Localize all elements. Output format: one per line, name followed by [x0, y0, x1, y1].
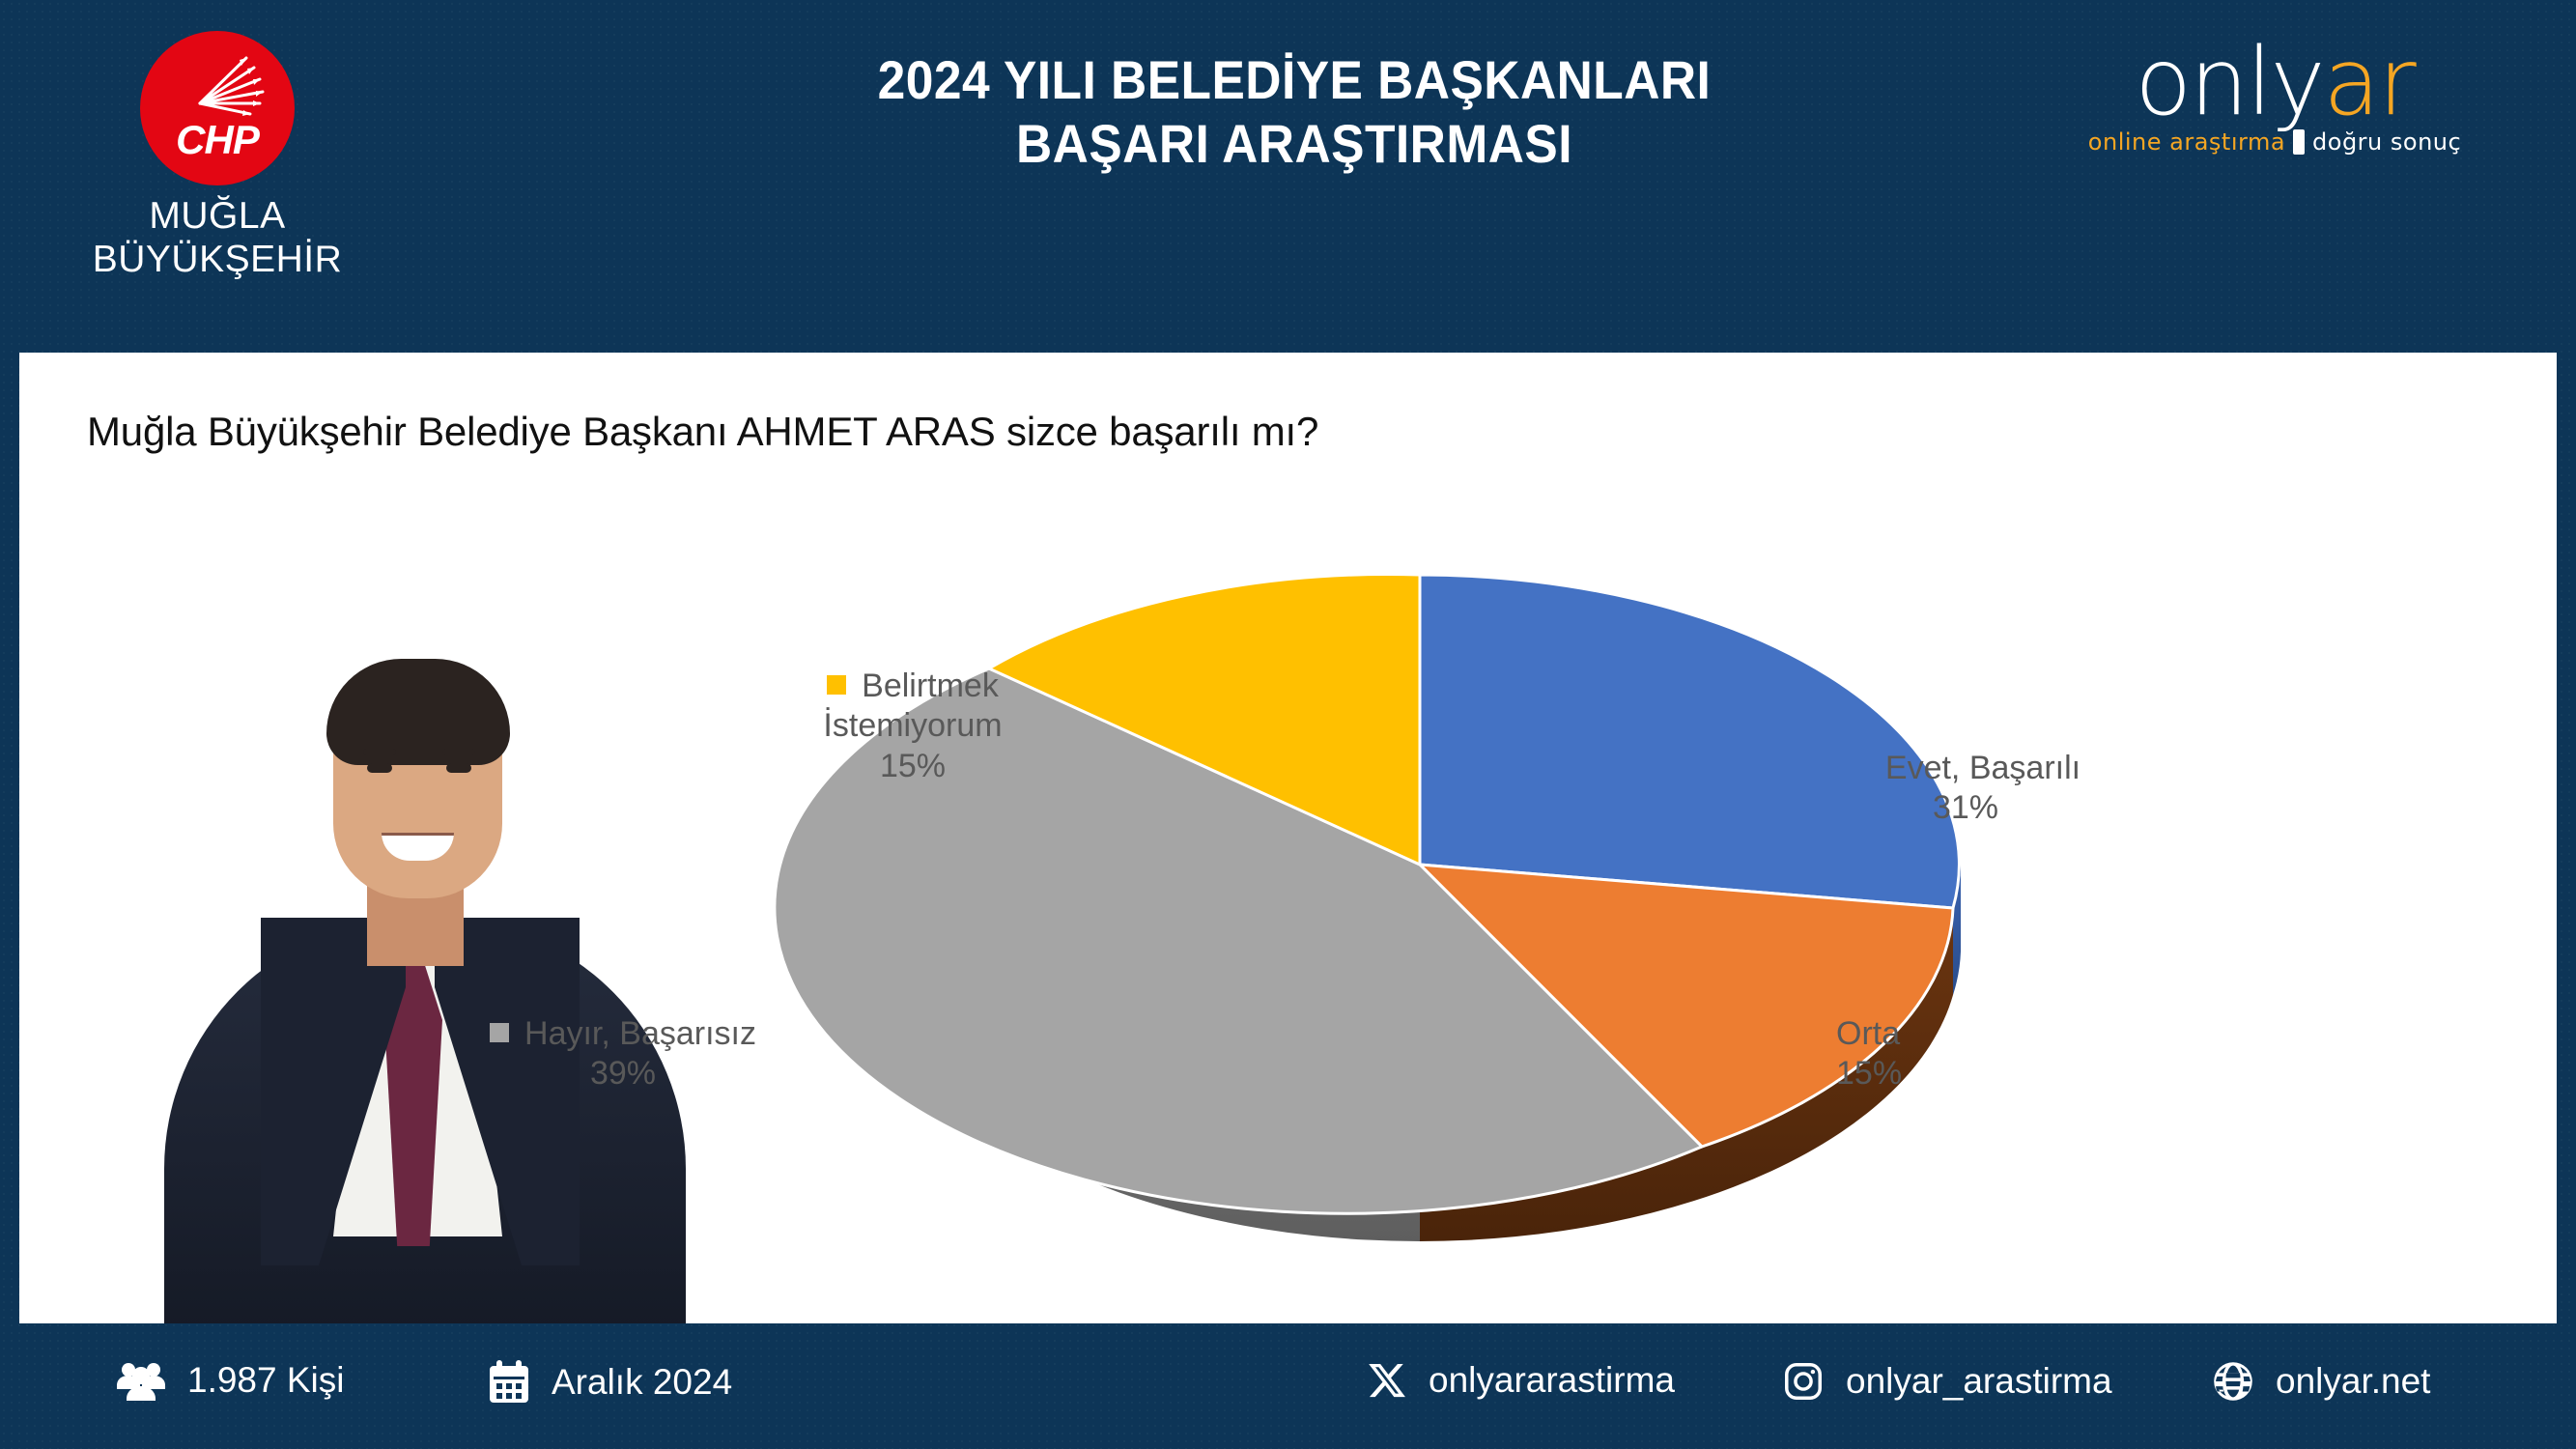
slide-title: 2024 YILI BELEDİYE BAŞKANLARI BAŞARI ARA… [618, 48, 1970, 176]
legend-swatch-belirtmek [827, 675, 846, 695]
pie-label-belirtmek-name: Belirtmek İstemiyorum [823, 668, 1002, 744]
pie-label-belirtmek-value: 15% [880, 748, 946, 784]
instagram-icon[interactable] [1782, 1360, 1825, 1403]
footer-instagram[interactable]: onlyar_arastirma [1782, 1360, 2112, 1403]
chp-logo-text: CHP [140, 120, 295, 160]
tagline-white: doğru sonuç [2312, 128, 2461, 156]
x-twitter-icon[interactable] [1367, 1360, 1407, 1401]
content-panel: Muğla Büyükşehir Belediye Başkanı AHMET … [19, 353, 2557, 1323]
pie-label-hayir-value: 39% [590, 1055, 656, 1092]
portrait-eye-left [367, 763, 392, 773]
brand-line-1: MUĞLA [92, 195, 343, 239]
footer-twitter-text[interactable]: onlyararastirma [1429, 1360, 1675, 1401]
ahmet-aras-portrait [77, 599, 753, 1323]
party-brand: CHP MUĞLA BÜYÜKŞEHİR [92, 31, 343, 282]
brand-line-2: BÜYÜKŞEHİR [92, 239, 343, 282]
onlyar-wordmark: onlyar [2043, 39, 2506, 127]
portrait-brow-left [363, 749, 396, 755]
pie-label-evet: Evet, Başarılı 31% [1801, 749, 2130, 829]
legend-swatch-orta [1801, 1023, 1821, 1042]
footer-instagram-text[interactable]: onlyar_arastirma [1846, 1361, 2112, 1402]
footer-sample-size: 1.987 Kişi [116, 1360, 345, 1401]
footer-bar: 1.987 Kişi Aralık 2024 [0, 1323, 2576, 1449]
pie-label-orta: Orta 15% [1801, 1014, 2130, 1094]
legend-swatch-hayir [490, 1023, 509, 1042]
header-bar: CHP MUĞLA BÜYÜKŞEHİR 2024 YILI BELEDİYE … [0, 0, 2576, 353]
pie-label-orta-value: 15% [1836, 1054, 1902, 1094]
portrait-eye-right [446, 763, 471, 773]
question-text: Muğla Büyükşehir Belediye Başkanı AHMET … [87, 409, 1318, 455]
title-line-1: 2024 YILI BELEDİYE BAŞKANLARI [672, 48, 1916, 112]
chp-sun-rays-logo: CHP [140, 31, 295, 185]
footer-website-text[interactable]: onlyar.net [2276, 1361, 2430, 1402]
portrait-hair [326, 659, 510, 765]
footer-website[interactable]: onlyar.net [2212, 1360, 2430, 1403]
footer-twitter[interactable]: onlyararastirma [1367, 1360, 1675, 1401]
onlyar-logo: onlyar online araştırmadoğru sonuç [2043, 39, 2506, 156]
onlyar-word-orange: ar [2323, 28, 2414, 136]
people-icon [116, 1360, 166, 1401]
tagline-orange: online araştırma [2088, 128, 2285, 156]
footer-date-text: Aralık 2024 [552, 1362, 732, 1403]
globe-icon[interactable] [2212, 1360, 2254, 1403]
tagline-separator-icon [2293, 129, 2305, 155]
onlyar-tagline: online araştırmadoğru sonuç [2043, 128, 2506, 156]
footer-sample-text: 1.987 Kişi [187, 1360, 345, 1401]
legend-swatch-evet [1851, 757, 1870, 777]
pie-chart: Belirtmek İstemiyorum 15% Evet, Başarılı… [773, 575, 2492, 1270]
pie-label-hayir-name: Hayır, Başarısız [524, 1015, 756, 1052]
pie-label-evet-name: Evet, Başarılı [1885, 750, 2081, 786]
title-line-2: BAŞARI ARAŞTIRMASI [672, 112, 1916, 176]
pie-slice-evet [1420, 575, 1959, 908]
calendar-icon [488, 1360, 530, 1405]
pie-label-evet-value: 31% [1933, 789, 1998, 826]
slide-root: CHP MUĞLA BÜYÜKŞEHİR 2024 YILI BELEDİYE … [0, 0, 2576, 1449]
onlyar-word-white: only [2135, 28, 2323, 136]
pie-label-orta-name: Orta [1836, 1015, 1900, 1052]
portrait-brow-right [442, 749, 475, 755]
pie-label-belirtmek: Belirtmek İstemiyorum 15% [753, 667, 1072, 786]
chp-rays-icon [140, 31, 295, 185]
pie-label-hayir: Hayır, Başarısız 39% [415, 1014, 831, 1094]
footer-date: Aralık 2024 [488, 1360, 732, 1405]
